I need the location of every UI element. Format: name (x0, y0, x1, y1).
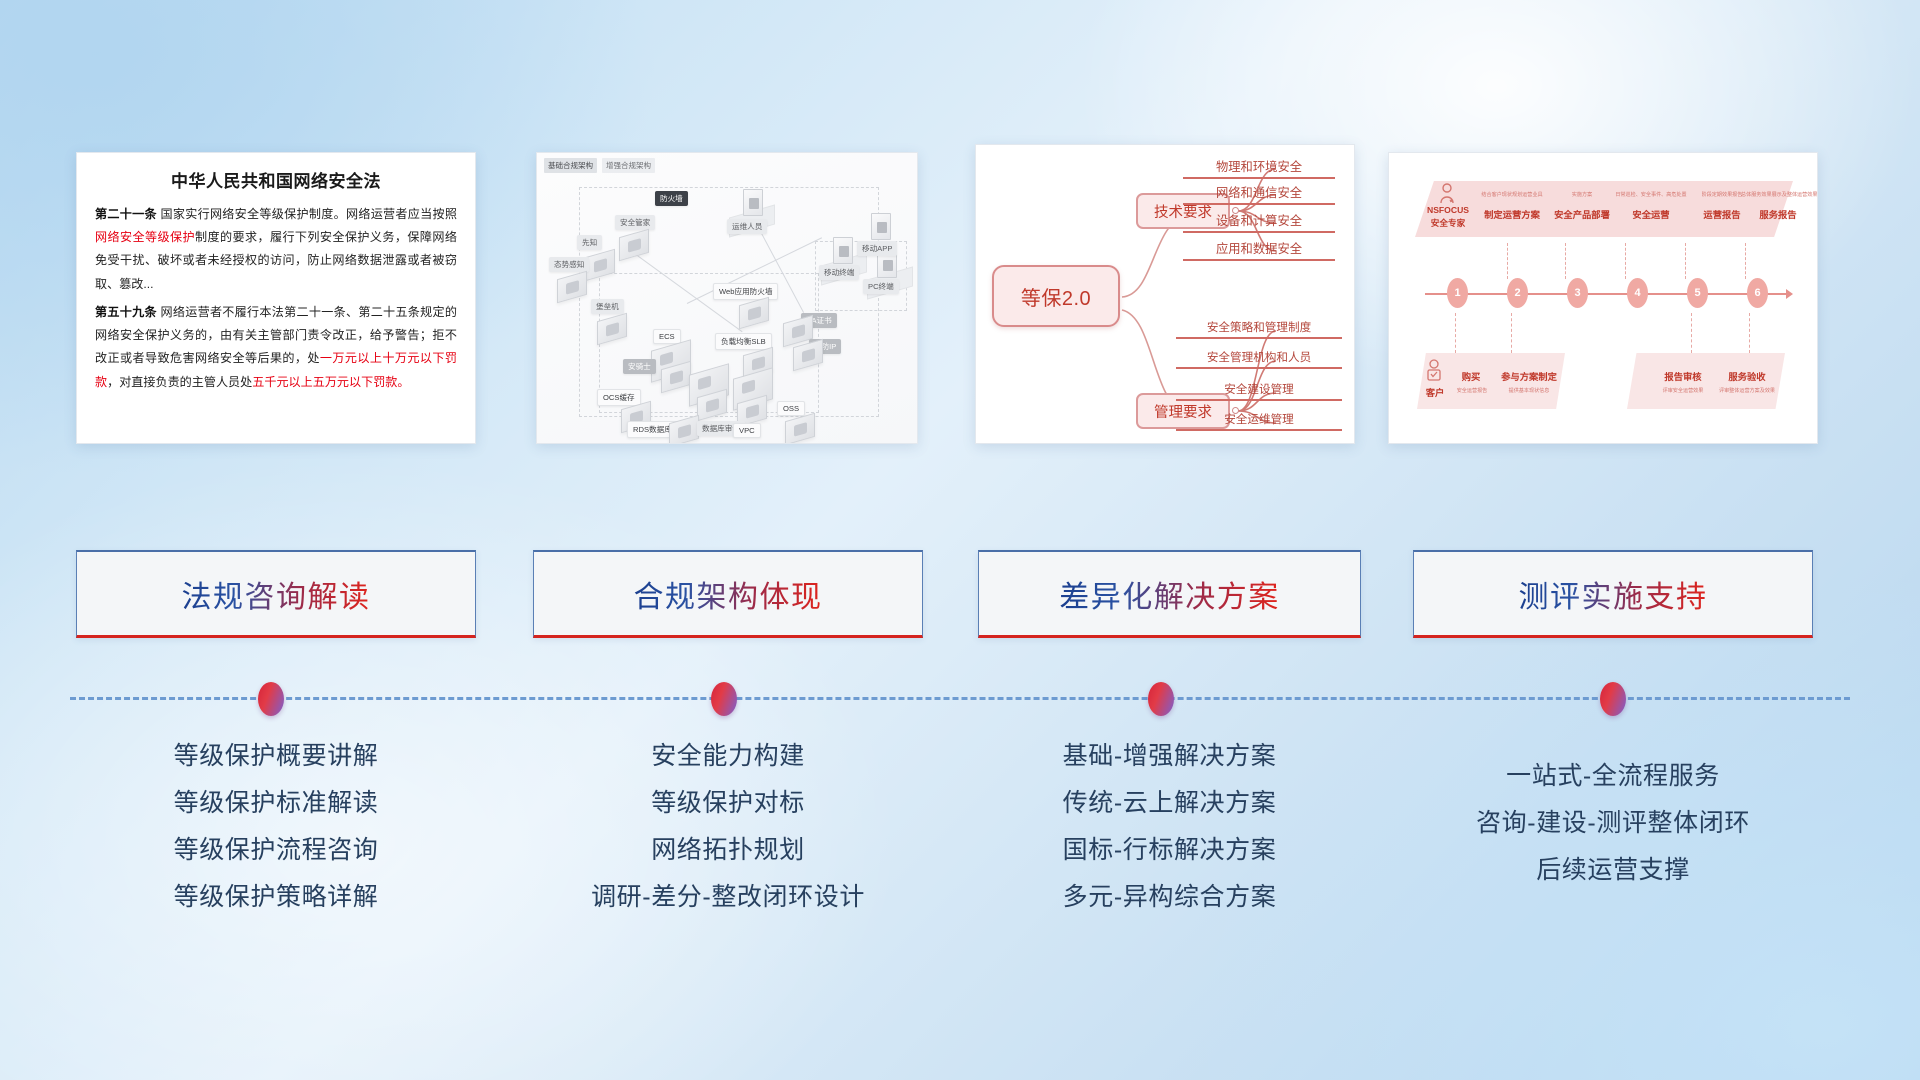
list-item: 多元-异构综合方案 (978, 876, 1361, 923)
section-header-label-4: 测评实施支持 (1519, 572, 1708, 616)
list-item: 等级保护流程咨询 (76, 829, 476, 876)
timeline-marker-4[interactable] (1600, 682, 1626, 716)
section-header-label-1: 法规咨询解读 (182, 572, 371, 616)
list-item: 等级保护概要讲解 (76, 735, 476, 782)
section-header-box-3[interactable]: 差异化解决方案 (978, 550, 1361, 638)
feature-list-1: 等级保护概要讲解 等级保护标准解读 等级保护流程咨询 等级保护策略详解 (76, 735, 476, 923)
list-item: 网络拓扑规划 (533, 829, 923, 876)
section-header-box-4[interactable]: 测评实施支持 (1413, 550, 1813, 638)
section-header-box-1[interactable]: 法规咨询解读 (76, 550, 476, 638)
timeline-marker-2[interactable] (711, 682, 737, 716)
feature-list-3: 基础-增强解决方案 传统-云上解决方案 国标-行标解决方案 多元-异构综合方案 (978, 735, 1361, 923)
list-item: 等级保护策略详解 (76, 876, 476, 923)
section-header-label-3: 差异化解决方案 (1059, 572, 1280, 616)
timeline-marker-1[interactable] (258, 682, 284, 716)
section-header-box-2[interactable]: 合规架构体现 (533, 550, 923, 638)
list-item: 等级保护对标 (533, 782, 923, 829)
timeline-marker-3[interactable] (1148, 682, 1174, 716)
section-header-label-2: 合规架构体现 (634, 572, 823, 616)
list-item: 一站式-全流程服务 (1413, 755, 1813, 802)
feature-list-2: 安全能力构建 等级保护对标 网络拓扑规划 调研-差分-整改闭环设计 (533, 735, 923, 923)
list-item: 等级保护标准解读 (76, 782, 476, 829)
list-item: 调研-差分-整改闭环设计 (533, 876, 923, 923)
list-item: 传统-云上解决方案 (978, 782, 1361, 829)
list-item: 后续运营支撑 (1413, 849, 1813, 896)
slide-canvas: 中华人民共和国网络安全法 第二十一条 国家实行网络安全等级保护制度。网络运营者应… (0, 0, 1920, 1080)
list-item: 国标-行标解决方案 (978, 829, 1361, 876)
list-item: 咨询-建设-测评整体闭环 (1413, 802, 1813, 849)
timeline-track (70, 697, 1850, 700)
list-item: 安全能力构建 (533, 735, 923, 782)
feature-list-4: 一站式-全流程服务 咨询-建设-测评整体闭环 后续运营支撑 (1413, 755, 1813, 896)
list-item: 基础-增强解决方案 (978, 735, 1361, 782)
